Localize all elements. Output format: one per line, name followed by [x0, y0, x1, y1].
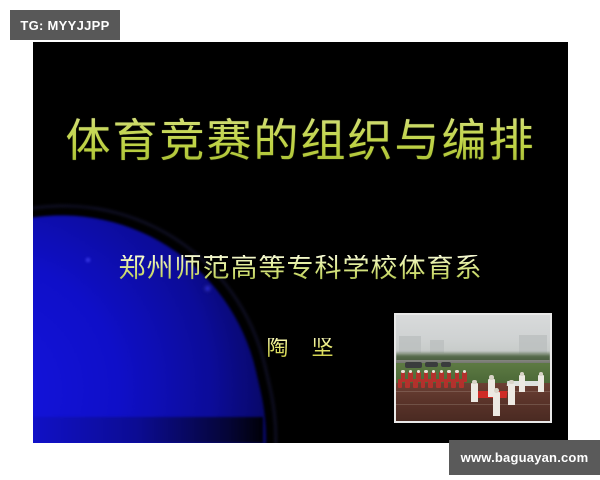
photo-honor-guard [519, 375, 525, 392]
photo-performer [405, 379, 410, 389]
photo-performer [444, 379, 449, 389]
photo-performer [451, 379, 456, 389]
photo-honor-guard-head [539, 372, 543, 376]
author-given-name: 坚 [312, 336, 335, 361]
photo-vehicle [441, 362, 452, 367]
photo-performer [398, 379, 403, 389]
photo-performer [436, 379, 441, 389]
photo-honor-guard [538, 375, 544, 392]
photo-performer [413, 379, 418, 389]
photo-performer [459, 379, 464, 389]
photo-performer-head [401, 370, 404, 373]
photo-vehicle [405, 362, 422, 368]
blue-glow-strip [33, 417, 263, 443]
site-watermark-label: www.baguayan.com [461, 450, 589, 465]
photo-honor-guard [471, 383, 477, 402]
site-watermark: www.baguayan.com [449, 440, 600, 475]
photo-performer [421, 379, 426, 389]
author-surname: 陶 [266, 336, 289, 361]
photo-performer [428, 379, 433, 389]
tg-badge: TG: MYYJJPP [10, 10, 120, 40]
photo-performer-head [424, 370, 427, 373]
tg-badge-label: TG: MYYJJPP [20, 18, 109, 33]
photo-honor-guard-head [509, 380, 513, 384]
slide-photo [394, 313, 552, 423]
slide-subtitle: 郑州师范高等专科学校体育系 [33, 255, 568, 282]
photo-track-line [396, 404, 550, 405]
blue-glow-rim [33, 164, 317, 443]
photo-vehicle [425, 362, 437, 367]
presentation-slide: 体育竞赛的组织与编排 郑州师范高等专科学校体育系 陶坚 [33, 42, 568, 443]
photo-honor-guard [493, 392, 500, 415]
photo-performer-head [455, 370, 458, 373]
photo-honor-guard-head [489, 375, 493, 379]
photo-honor-guard [508, 384, 514, 405]
blue-spark-icon [203, 284, 212, 293]
photo-honor-guard-head [494, 388, 499, 393]
slide-main-title: 体育竞赛的组织与编排 [33, 118, 568, 163]
photo-honor-guard-head [472, 380, 476, 384]
photo-canvas [396, 315, 550, 421]
